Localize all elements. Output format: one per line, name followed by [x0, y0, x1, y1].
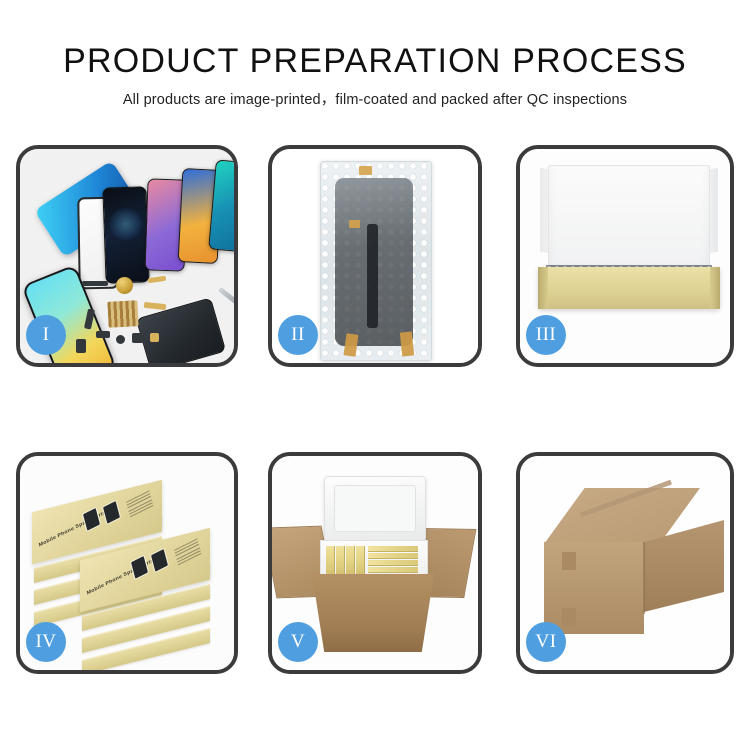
carton-tape — [562, 608, 576, 626]
carton-front-face — [544, 542, 644, 634]
step-badge-2: II — [278, 315, 318, 355]
process-step-4[interactable]: Mobile Phone Spare Parts Mobile P — [16, 452, 238, 674]
tape-piece — [349, 220, 360, 228]
chip-grid-part — [107, 300, 138, 328]
process-step-grid: I II — [0, 0, 750, 750]
step-badge-1: I — [26, 315, 66, 355]
tape-piece — [344, 333, 359, 356]
process-step-3[interactable]: III — [516, 145, 734, 367]
flex-cable — [367, 224, 378, 328]
product-preparation-infographic: PRODUCT PREPARATION PROCESS All products… — [0, 0, 750, 750]
tape-piece — [400, 331, 414, 356]
carton-tape — [562, 552, 576, 570]
box-lid-white — [548, 165, 710, 275]
step-badge-6: VI — [526, 622, 566, 662]
phone-black — [102, 186, 149, 283]
box-base-yellow — [538, 267, 720, 309]
step-badge-5: V — [278, 622, 318, 662]
process-step-6[interactable]: VI — [516, 452, 734, 674]
foam-lid — [324, 476, 426, 542]
step-badge-4: IV — [26, 622, 66, 662]
tape-piece — [359, 166, 372, 175]
bubble-wrap-bag — [320, 161, 432, 361]
step-badge-3: III — [526, 315, 566, 355]
process-step-2[interactable]: II — [268, 145, 482, 367]
carton-body — [312, 574, 434, 652]
process-step-1[interactable]: I — [16, 145, 238, 367]
process-step-5[interactable]: V — [268, 452, 482, 674]
gold-coil-part — [116, 277, 133, 294]
